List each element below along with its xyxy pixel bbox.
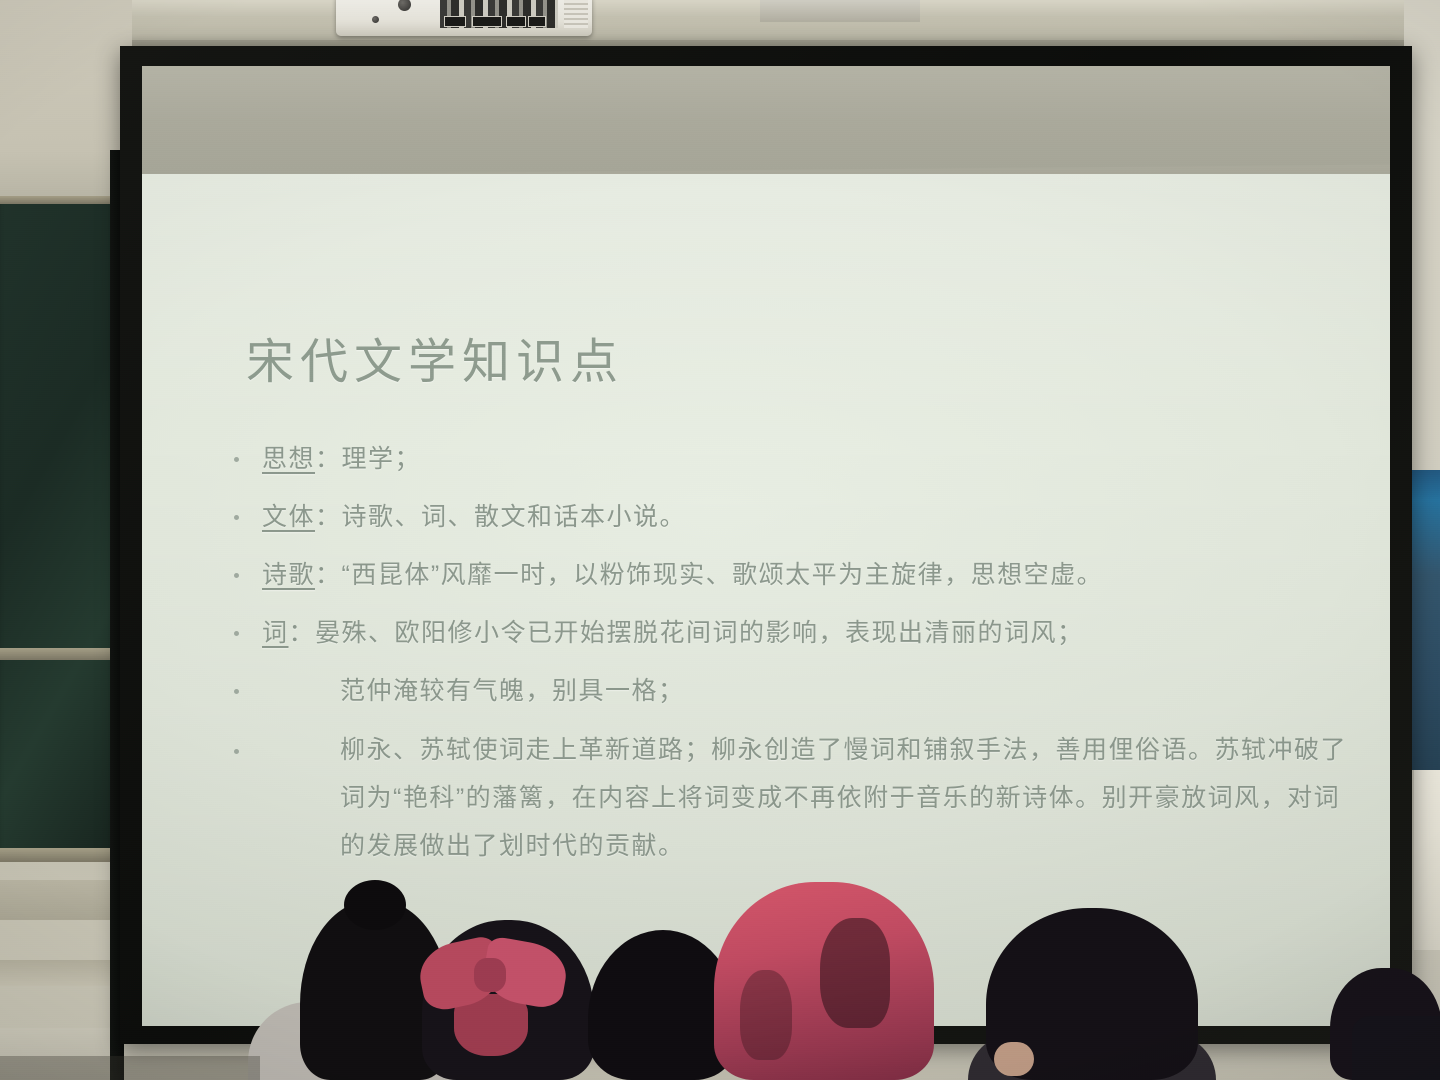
blackboard-rail-top [0,196,118,204]
slide-bullet-thought: 思想：理学； [228,436,1350,482]
bullet-dot-icon [234,749,239,754]
projector-vent [564,0,588,28]
student-hand [994,1042,1034,1076]
hair-bow-knot [474,958,506,992]
projector-port-usb [528,16,546,27]
bullet-lead-label: 诗歌 [262,561,315,589]
foreground-desk-edge [0,1056,260,1080]
bullet-separator: ： [289,619,316,647]
ceiling-strip [0,0,1440,16]
bullet-text: 柳永、苏轼使词走上革新道路；柳永创造了慢词和铺叙手法，善用俚俗语。苏轼冲破了词为… [340,726,1350,870]
slide-bullet-liuyong-sushi: 柳永、苏轼使词走上革新道路；柳永创造了慢词和铺叙手法，善用俚俗语。苏轼冲破了词为… [228,726,1350,870]
bullet-lead-label: 文体 [262,503,315,531]
projector-lens-icon [398,0,411,11]
projector-port-hdmi [506,16,526,27]
bullet-text: 理学； [342,445,422,473]
student-pink-hair [700,870,960,1080]
bullet-text: 晏殊、欧阳修小令已开始摆脱花间词的影响，表现出清丽的词风； [315,619,1084,647]
slide-bullet-genre: 文体：诗歌、词、散文和话本小说。 [228,494,1350,540]
bullet-lead-label: 思想 [262,445,315,473]
bullet-dot-icon [234,515,239,520]
bullet-text: 诗歌、词、散文和话本小说。 [342,503,687,531]
foreground-dark-mass [1352,1016,1440,1080]
projector-port-serial [472,16,502,27]
screen-unlit-band [142,66,1390,178]
hair-dark-streak [820,918,890,1028]
slide-bullet-ci: 词：晏殊、欧阳修小令已开始摆脱花间词的影响，表现出清丽的词风； [228,610,1350,656]
bullet-text: “西昆体”风靡一时，以粉饰现实、歌颂太平为主旋律，思想空虚。 [342,561,1104,589]
bullet-dot-icon [234,573,239,578]
bullet-separator: ： [315,561,342,589]
slide-bullet-fanzhongyan: 范仲淹较有气魄，别具一格； [228,668,1350,714]
slide-content: 宋代文学知识点 思想：理学； 文体：诗歌、词、散文和话本小说。 诗歌：“西昆体”… [228,322,1350,870]
student-audience [0,856,1440,1080]
blackboard [0,196,118,856]
hair-dark-streak-secondary [740,970,792,1060]
bullet-lead-label: 词 [262,619,289,647]
projector-screw-icon [372,16,379,23]
bullet-separator: ： [315,445,342,473]
slide-bullet-list: 思想：理学； 文体：诗歌、词、散文和话本小说。 诗歌：“西昆体”风靡一时，以粉饰… [228,436,1350,870]
student-black-right [968,894,1218,1080]
bullet-dot-icon [234,457,239,462]
bullet-dot-icon [234,631,239,636]
blackboard-rail-middle [0,648,118,660]
classroom-photo: 宋代文学知识点 思想：理学； 文体：诗歌、词、散文和话本小说。 诗歌：“西昆体”… [0,0,1440,1080]
projector-port-vga [444,16,466,27]
slide-title: 宋代文学知识点 [246,322,1350,392]
bullet-text: 范仲淹较有气魄，别具一格； [340,677,685,705]
projector-mount [760,0,920,22]
hair-bun [344,880,406,930]
ceiling-projector [336,0,592,36]
bullet-dot-icon [234,689,239,694]
wall-poster-blue [1412,470,1440,770]
bullet-separator: ： [315,503,342,531]
slide-bullet-poetry: 诗歌：“西昆体”风靡一时，以粉饰现实、歌颂太平为主旋律，思想空虚。 [228,552,1350,598]
